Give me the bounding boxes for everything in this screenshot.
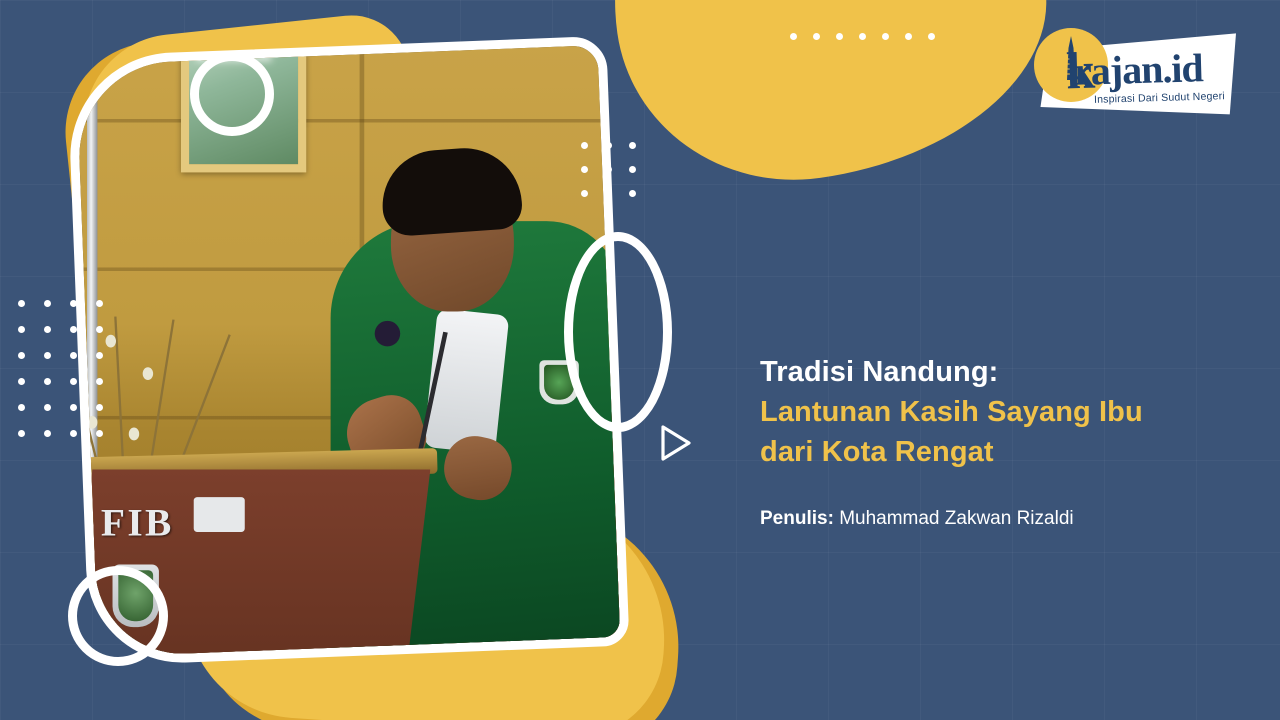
yellow-blob-top-right [587,0,1067,203]
article-title-line-1: Tradisi Nandung: [760,352,1230,392]
photo-content: FIB [66,36,629,666]
photo-microphone-head [375,321,401,347]
dot-grid-left [18,300,103,437]
article-byline: Penulis: Muhammad Zakwan Rizaldi [760,508,1230,530]
photo-podium-label: FIB [101,502,174,546]
article-title-line-2: Lantunan Kasih Sayang Ibu [760,392,1230,432]
author-label: Penulis: [760,508,834,529]
author-name: Muhammad Zakwan Rizaldi [839,508,1073,529]
article-text-block: Tradisi Nandung: Lantunan Kasih Sayang I… [760,352,1230,530]
logo-wordmark: rajan.id [1073,44,1203,95]
play-triangle-icon [660,424,692,462]
article-photo: FIB [66,36,629,666]
dot-row-top [790,33,935,40]
photo-podium-plate [194,497,245,532]
thumbnail-canvas: FIB [0,0,1280,720]
circle-outline-right [564,232,672,432]
krajan-logo[interactable]: k rajan.id Inspirasi Dari Sudut Negeri [1028,26,1236,118]
circle-outline-top [190,52,274,136]
article-title-line-3: dari Kota Rengat [760,432,1230,472]
dot-grid-middle [581,142,636,197]
circle-outline-bottom [68,566,168,666]
